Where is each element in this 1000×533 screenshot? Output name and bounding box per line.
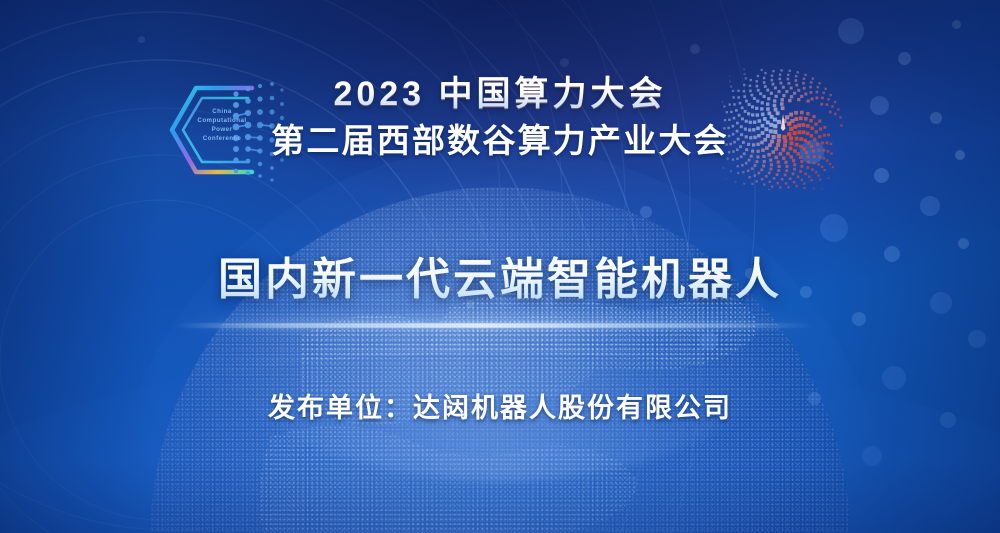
- publisher-line: 发布单位：达闼机器人股份有限公司: [0, 386, 1000, 425]
- conference-title-block: 2023 中国算力大会 第二届西部数谷算力产业大会: [0, 74, 1000, 160]
- conference-banner: China Computational Power Conference 202…: [0, 0, 1000, 533]
- main-headline: 国内新一代云端智能机器人: [0, 243, 1000, 307]
- conference-title-line-1: 2023 中国算力大会: [0, 74, 1000, 114]
- conference-title-line-2: 第二届西部数谷算力产业大会: [0, 122, 1000, 160]
